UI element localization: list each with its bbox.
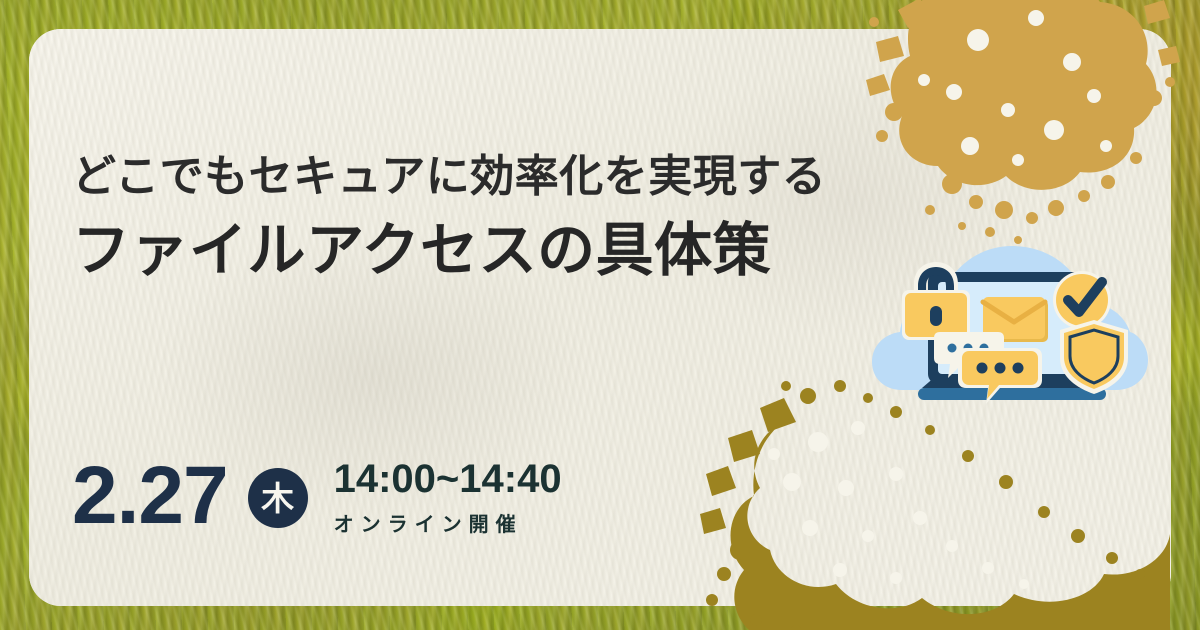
time-block: 14:00~14:40 オンライン開催 xyxy=(334,458,562,537)
secure-file-access-illustration xyxy=(862,238,1162,418)
check-circle-icon xyxy=(1053,271,1111,329)
event-venue: オンライン開催 xyxy=(334,508,562,537)
title-line-1: どこでもセキュアに効率化を実現する xyxy=(72,152,972,203)
seminar-banner: どこでもセキュアに効率化を実現する ファイルアクセスの具体策 xyxy=(0,0,1200,630)
headline-block: どこでもセキュアに効率化を実現する ファイルアクセスの具体策 xyxy=(72,152,972,285)
event-time: 14:00~14:40 xyxy=(334,458,562,500)
event-date: 2.27 xyxy=(72,455,228,537)
title-line-2: ファイルアクセスの具体策 xyxy=(72,217,972,285)
weekday-badge: 木 xyxy=(248,468,308,528)
event-date-bar: 2.27 木 14:00~14:40 オンライン開催 xyxy=(72,455,562,537)
